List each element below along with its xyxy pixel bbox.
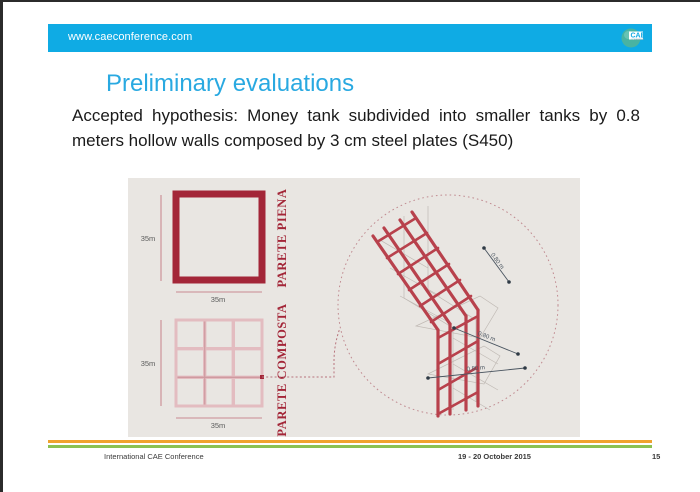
footer-date: 19 - 20 October 2015 xyxy=(458,452,531,461)
window-frame-left-edge xyxy=(0,0,3,492)
callout-connector-group xyxy=(260,328,340,379)
full-wall-group: 35m 35m PARETE PIENA xyxy=(141,189,289,305)
callout-leader-line xyxy=(262,361,334,377)
composite-wall-label: PARETE COMPOSTA xyxy=(275,303,289,436)
window-frame-top-edge xyxy=(0,0,700,2)
full-wall-height-dim-label: 35m xyxy=(141,234,156,243)
figure-panel: 35m 35m PARETE PIENA 35m xyxy=(128,178,580,437)
composite-wall-group: 35m 35m PARETE COMPOSTA xyxy=(141,303,289,436)
composite-wall-width-dim-label: 35m xyxy=(211,421,226,430)
detail-callout-group: 0.80 m 0.80 m 0.80 m xyxy=(338,195,558,416)
cae-globe-logo-icon: CAE CONFERENCE xyxy=(620,26,644,50)
footer-conference-name: International CAE Conference xyxy=(104,452,204,461)
callout-leader-curve xyxy=(334,328,340,361)
footer-rule-orange xyxy=(48,440,652,443)
slide-body-text: Accepted hypothesis: Money tank subdivid… xyxy=(72,103,640,153)
full-wall-square xyxy=(176,194,262,280)
composite-wall-height-dim-label: 35m xyxy=(141,359,156,368)
wall-schematic-diagram: 35m 35m PARETE PIENA 35m xyxy=(128,178,580,437)
callout-circle xyxy=(338,195,558,415)
footer-rule-green xyxy=(48,445,652,448)
svg-text:CONFERENCE: CONFERENCE xyxy=(631,39,644,41)
slide-canvas: www.caeconference.com CAE CONFERENCE Pre… xyxy=(0,0,700,492)
detail-dim-bottom-label: 0.80 m xyxy=(466,365,485,373)
detail-dim-top: 0.80 m xyxy=(482,246,511,284)
footer-page-number: 15 xyxy=(652,452,660,461)
header-bar: www.caeconference.com CAE CONFERENCE xyxy=(48,24,652,52)
full-wall-label: PARETE PIENA xyxy=(275,189,289,288)
detail-rebar-upper xyxy=(373,212,478,330)
page-title: Preliminary evaluations xyxy=(106,70,354,98)
composite-wall-outer-frame xyxy=(176,320,262,406)
detail-dim-top-label: 0.80 m xyxy=(489,252,505,270)
detail-rebar-lower xyxy=(438,310,478,416)
header-website-url[interactable]: www.caeconference.com xyxy=(68,31,192,43)
full-wall-width-dim-label: 35m xyxy=(211,295,226,304)
